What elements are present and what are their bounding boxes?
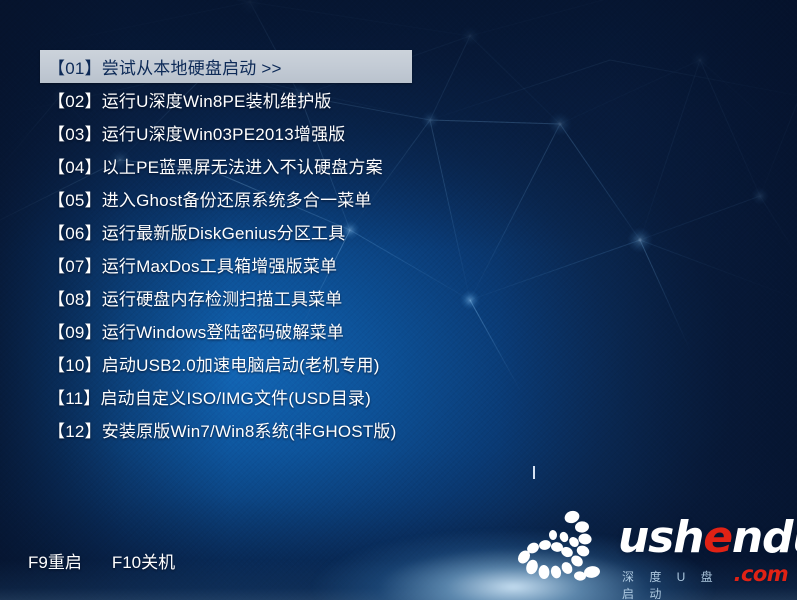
hotkey-f9-restart[interactable]: F9重启 xyxy=(28,548,82,573)
menu-item-label: 【05】进入Ghost备份还原系统多合一菜单 xyxy=(48,186,372,211)
menu-item-label: 【04】以上PE蓝黑屏无法进入不认硬盘方案 xyxy=(48,153,383,178)
menu-item-06[interactable]: 【06】运行最新版DiskGenius分区工具 xyxy=(40,215,460,248)
menu-item-04[interactable]: 【04】以上PE蓝黑屏无法进入不认硬盘方案 xyxy=(40,149,460,182)
brand-logo: ushendu 深 度 U 盘 启 动 .com xyxy=(516,508,788,590)
logo-tagline-row: 深 度 U 盘 启 动 .com xyxy=(622,562,788,600)
menu-item-05[interactable]: 【05】进入Ghost备份还原系统多合一菜单 xyxy=(40,182,460,215)
menu-item-10[interactable]: 【10】启动USB2.0加速电脑启动(老机专用) xyxy=(40,347,460,380)
menu-item-label: 【03】运行U深度Win03PE2013增强版 xyxy=(48,120,345,145)
footer-hotkeys: F9重启 F10关机 xyxy=(28,548,175,573)
logo-tagline: 深 度 U 盘 启 动 xyxy=(622,568,736,600)
boot-menu-list: 【01】尝试从本地硬盘启动 >> 【02】运行U深度Win8PE装机维护版 【0… xyxy=(40,50,460,446)
menu-item-label: 【08】运行硬盘内存检测扫描工具菜单 xyxy=(48,285,343,310)
boot-menu-screen: 【01】尝试从本地硬盘启动 >> 【02】运行U深度Win8PE装机维护版 【0… xyxy=(0,0,797,600)
menu-item-07[interactable]: 【07】运行MaxDos工具箱增强版菜单 xyxy=(40,248,460,281)
menu-item-08[interactable]: 【08】运行硬盘内存检测扫描工具菜单 xyxy=(40,281,460,314)
menu-item-label: 【10】启动USB2.0加速电脑启动(老机专用) xyxy=(48,351,380,376)
logo-domain: .com xyxy=(734,562,788,586)
hotkey-f10-shutdown[interactable]: F10关机 xyxy=(112,548,175,573)
text-caret xyxy=(533,466,535,479)
menu-item-01[interactable]: 【01】尝试从本地硬盘启动 >> xyxy=(40,50,412,83)
logo-word-accent: e xyxy=(703,512,732,563)
menu-item-12[interactable]: 【12】安装原版Win7/Win8系统(非GHOST版) xyxy=(40,413,460,446)
menu-item-label: 【11】启动自定义ISO/IMG文件(USD目录) xyxy=(48,384,371,409)
menu-item-label: 【02】运行U深度Win8PE装机维护版 xyxy=(48,87,332,112)
menu-item-09[interactable]: 【09】运行Windows登陆密码破解菜单 xyxy=(40,314,460,347)
menu-item-label: 【12】安装原版Win7/Win8系统(非GHOST版) xyxy=(48,417,396,442)
menu-item-label: 【09】运行Windows登陆密码破解菜单 xyxy=(48,318,344,343)
menu-item-03[interactable]: 【03】运行U深度Win03PE2013增强版 xyxy=(40,116,460,149)
logo-wordmark: ushendu xyxy=(618,516,797,560)
menu-item-label: 【01】尝试从本地硬盘启动 >> xyxy=(48,54,282,79)
menu-item-label: 【06】运行最新版DiskGenius分区工具 xyxy=(48,219,345,244)
menu-item-11[interactable]: 【11】启动自定义ISO/IMG文件(USD目录) xyxy=(40,380,460,413)
logo-word-part2: ndu xyxy=(732,512,797,563)
ushendu-dotted-swirl-logo-icon xyxy=(516,510,616,593)
logo-word-part1: ush xyxy=(618,512,703,563)
menu-item-02[interactable]: 【02】运行U深度Win8PE装机维护版 xyxy=(40,83,460,116)
menu-item-label: 【07】运行MaxDos工具箱增强版菜单 xyxy=(48,252,337,277)
